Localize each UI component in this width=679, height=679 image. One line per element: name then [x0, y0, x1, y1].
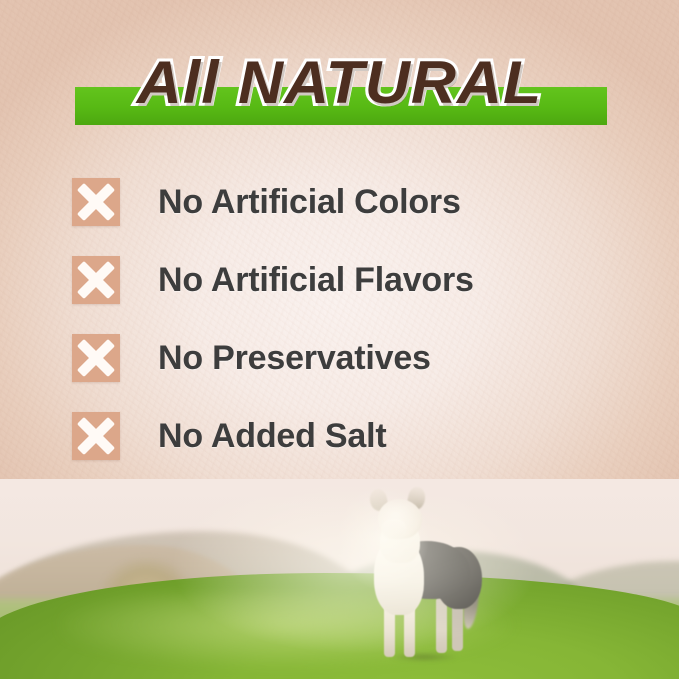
feature-list: No Artificial Colors No Artificial Flavo…	[72, 178, 632, 490]
headline-banner: All NATURAL	[0, 48, 679, 132]
landscape-photo	[0, 479, 679, 679]
list-item: No Added Salt	[72, 412, 632, 460]
x-mark-icon	[72, 178, 120, 226]
dog	[352, 485, 492, 667]
list-item: No Artificial Flavors	[72, 256, 632, 304]
x-mark-icon	[72, 412, 120, 460]
feature-label: No Added Salt	[158, 417, 386, 456]
grass-sun-glow	[60, 593, 620, 673]
x-mark-icon	[72, 256, 120, 304]
feature-label: No Artificial Colors	[158, 183, 461, 222]
list-item: No Preservatives	[72, 334, 632, 382]
product-infographic: All NATURAL No Artificial Colors No Arti…	[0, 0, 679, 679]
feature-label: No Artificial Flavors	[158, 261, 474, 300]
list-item: No Artificial Colors	[72, 178, 632, 226]
feature-label: No Preservatives	[158, 339, 431, 378]
x-mark-icon	[72, 334, 120, 382]
dog-muzzle	[382, 519, 406, 539]
page-title: All NATURAL	[0, 48, 679, 118]
